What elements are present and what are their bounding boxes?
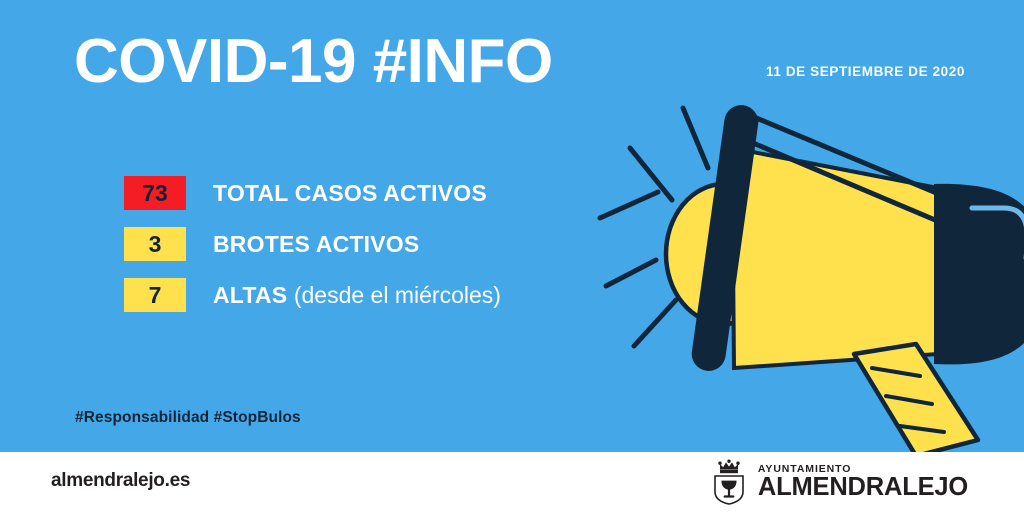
brand-name: ALMENDRALEJO — [758, 475, 968, 501]
stat-row: 7 ALTAS (desde el miércoles) — [124, 278, 501, 312]
poster-date: 11 DE SEPTIEMBRE DE 2020 — [766, 64, 965, 79]
hashtags: #Responsabilidad #StopBulos — [75, 409, 301, 427]
stats-list: 73 TOTAL CASOS ACTIVOS 3 BROTES ACTIVOS … — [124, 176, 501, 329]
stat-badge-total-casos-activos: 73 — [124, 176, 186, 210]
stat-label-total-casos-activos: TOTAL CASOS ACTIVOS — [213, 180, 487, 207]
stat-badge-brotes-activos: 3 — [124, 227, 186, 261]
stat-label-text: TOTAL CASOS ACTIVOS — [213, 180, 487, 206]
stat-label-altas: ALTAS (desde el miércoles) — [213, 282, 501, 309]
poster-stage: COVID-19 #INFO 11 DE SEPTIEMBRE DE 2020 — [0, 0, 1024, 452]
brand-wordmark: AYUNTAMIENTO ALMENDRALEJO — [758, 464, 968, 501]
stat-label-text: ALTAS — [213, 282, 287, 308]
stat-row: 73 TOTAL CASOS ACTIVOS — [124, 176, 501, 210]
megaphone-illustration — [586, 96, 1024, 452]
page-title: COVID-19 #INFO — [74, 31, 553, 93]
stat-label-brotes-activos: BROTES ACTIVOS — [213, 231, 419, 258]
crown-icon — [718, 460, 739, 474]
coat-of-arms-icon — [709, 459, 749, 505]
stat-row: 3 BROTES ACTIVOS — [124, 227, 501, 261]
footer: almendralejo.es AYUNTAMIENTO — [0, 452, 1024, 512]
stat-label-text: BROTES ACTIVOS — [213, 231, 419, 257]
stat-badge-altas: 7 — [124, 278, 186, 312]
stat-label-note: (desde el miércoles) — [294, 282, 501, 308]
ayuntamiento-logo: AYUNTAMIENTO ALMENDRALEJO — [709, 458, 968, 506]
poster: COVID-19 #INFO 11 DE SEPTIEMBRE DE 2020 — [0, 0, 1024, 512]
website-url[interactable]: almendralejo.es — [51, 470, 190, 492]
